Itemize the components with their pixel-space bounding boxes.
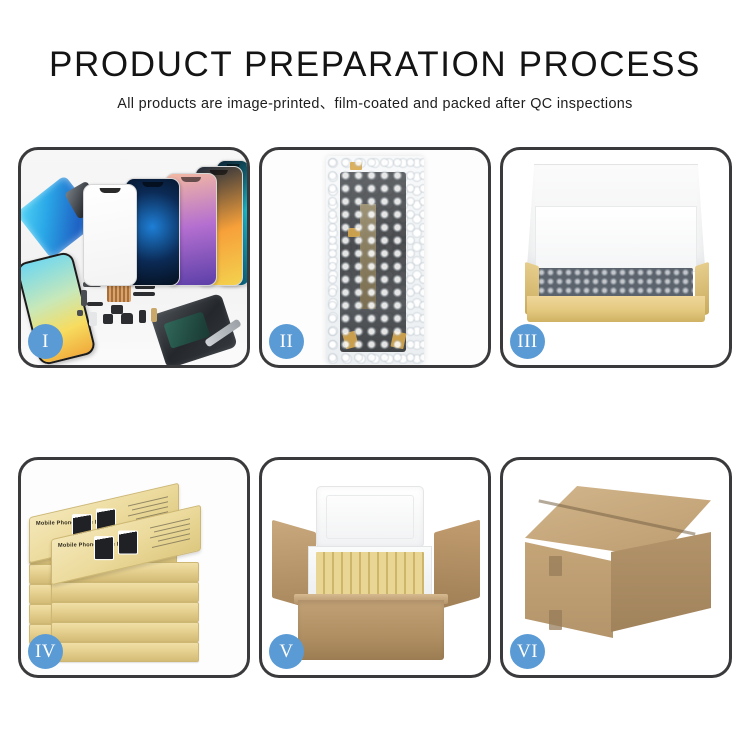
screen-swatch [94, 536, 114, 560]
foam-box-lid [316, 486, 424, 548]
carton-tape-lower [549, 610, 562, 630]
bubble-texture [326, 156, 424, 364]
box-layer [51, 622, 199, 642]
grey-bubble-foam [537, 268, 693, 298]
part-vibrator [121, 313, 133, 324]
part-ribbon [133, 292, 155, 296]
part-battery [89, 312, 97, 326]
kraft-box-front [527, 296, 705, 322]
phone-display-fan [83, 164, 247, 286]
screen-swatch [118, 531, 138, 555]
step-panel-3: III [500, 147, 732, 368]
step-badge-4: IV [28, 634, 63, 669]
step-badge-6: VI [510, 634, 545, 669]
bubble-wrap-bag [326, 156, 424, 364]
product-preparation-process-page: PRODUCT PREPARATION PROCESS All products… [0, 0, 750, 750]
box-stack: Mobile Phone Spare Parts [29, 478, 241, 658]
page-header: PRODUCT PREPARATION PROCESS All products… [0, 0, 750, 114]
step-panel-1: I [18, 147, 250, 368]
step-badge-2: II [269, 324, 304, 359]
step-panel-6: VI [500, 457, 732, 678]
part-flex-cable [87, 302, 103, 306]
part-connector [139, 310, 146, 323]
carton-body [298, 600, 444, 660]
step-badge-3: III [510, 324, 545, 359]
step-panel-4: Mobile Phone Spare Parts [18, 457, 250, 678]
notch-icon [100, 188, 121, 193]
step-panel-2: II [259, 147, 491, 368]
phone-screen-white [83, 184, 137, 286]
carton-left-face [525, 542, 613, 638]
notch-icon [142, 182, 163, 187]
page-subtitle: All products are image-printed、film-coat… [0, 94, 750, 114]
carton-tape-upper [549, 556, 562, 576]
step-badge-1: I [28, 324, 63, 359]
process-steps-grid: I II [18, 147, 732, 678]
box-layer [51, 642, 199, 662]
box-layer [51, 602, 199, 622]
part-gold-pin [151, 308, 157, 322]
box-layer [51, 582, 199, 602]
step-badge-5: V [269, 634, 304, 669]
notch-icon [181, 177, 201, 182]
part-button [103, 314, 113, 324]
page-title: PRODUCT PREPARATION PROCESS [0, 45, 750, 85]
step-panel-5: V [259, 457, 491, 678]
yellow-boxes-row [316, 552, 424, 596]
white-foam-sheet [535, 206, 697, 272]
part-screw [77, 310, 83, 316]
